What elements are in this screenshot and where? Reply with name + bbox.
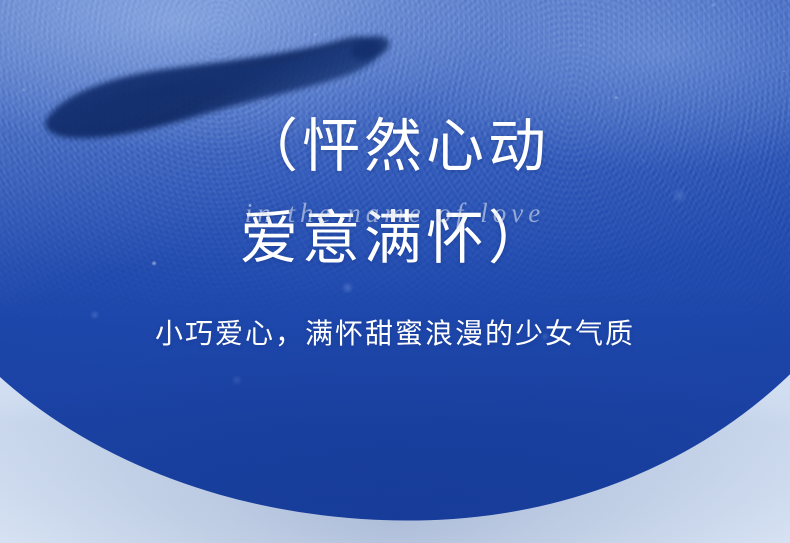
product-banner: （怦然心动 爱意满怀） in the name of love 小巧爱心，满怀甜… bbox=[0, 0, 790, 543]
headline-line-2: 爱意满怀） bbox=[0, 210, 790, 268]
banner-subtitle: 小巧爱心，满怀甜蜜浪漫的少女气质 bbox=[0, 312, 790, 352]
banner-copy: （怦然心动 爱意满怀） in the name of love 小巧爱心，满怀甜… bbox=[0, 0, 790, 543]
headline-block: （怦然心动 爱意满怀） bbox=[0, 118, 790, 268]
headline-line-1: （怦然心动 bbox=[0, 118, 790, 176]
